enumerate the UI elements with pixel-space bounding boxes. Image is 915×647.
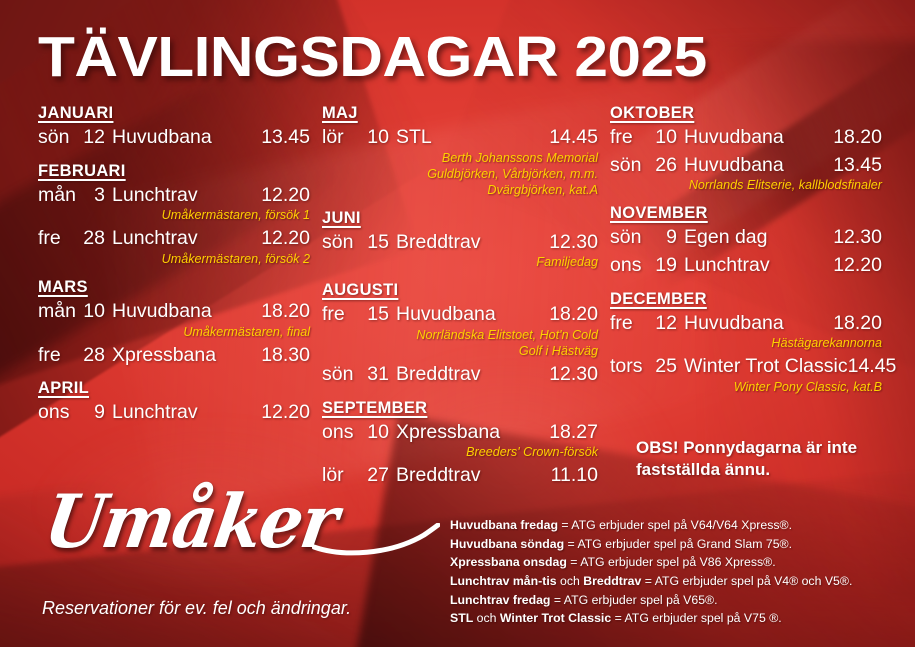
event-date: 15 [366,229,396,257]
event-time: 12.30 [549,361,598,389]
month-column-3: OKTOBERfre10Huvudbana18.20sön26Huvudbana… [610,104,882,406]
event-date: 9 [654,224,684,252]
event-name: Breddtrav [396,462,551,490]
event-time: 11.10 [551,462,598,490]
month-block: OKTOBERfre10Huvudbana18.20sön26Huvudbana… [610,104,882,194]
event-note: Berth Johanssons Memorial [322,151,598,167]
event-weekday: mån [38,298,82,326]
month-block: MAJlör10STL14.45Berth Johanssons Memoria… [322,104,598,199]
event-date: 10 [366,124,396,152]
month-name: DECEMBER [610,290,882,309]
legend-description: = ATG erbjuder spel på V64/V64 Xpress®. [558,518,792,532]
event-note: Familjedag [322,255,598,271]
event-name: Lunchtrav [112,182,261,210]
event-name: Winter Trot Classic [684,353,848,381]
month-name: OKTOBER [610,104,882,123]
event-weekday: lör [322,124,366,152]
event-time: 18.30 [261,342,310,370]
legend-description: = ATG erbjuder spel på V86 Xpress®. [567,555,776,569]
month-block: MARSmån10Huvudbana18.20Umåkermästaren, f… [38,278,310,369]
event-note: Hästägarekannorna [610,336,882,352]
event-date: 12 [82,124,112,152]
event-time: 13.45 [833,152,882,180]
legend-line: Lunchtrav mån-tis och Breddtrav = ATG er… [450,572,905,591]
event-row: sön31Breddtrav12.30 [322,361,598,389]
legend-term: Lunchtrav fredag [450,593,550,607]
event-name: STL [396,124,549,152]
event-date: 25 [654,353,684,381]
event-time: 12.20 [261,225,310,253]
event-time: 18.20 [549,301,598,329]
logo-wordmark: Umåker [40,486,341,559]
event-time: 14.45 [848,353,897,381]
event-name: Egen dag [684,224,833,252]
event-weekday: sön [610,152,654,180]
month-column-2: MAJlör10STL14.45Berth Johanssons Memoria… [322,104,598,500]
month-block: JANUARIsön12Huvudbana13.45 [38,104,310,152]
event-time: 18.20 [833,124,882,152]
event-weekday: sön [322,229,366,257]
month-name: NOVEMBER [610,204,882,223]
legend-line: Huvudbana fredag = ATG erbjuder spel på … [450,516,905,535]
event-time: 12.20 [833,252,882,280]
legend-description: = ATG erbjuder spel på Grand Slam 75®. [564,537,792,551]
legend-term: Huvudbana söndag [450,537,564,551]
event-date: 31 [366,361,396,389]
legend-term: STL [450,611,473,625]
event-name: Breddtrav [396,361,549,389]
month-block: FEBRUARImån3Lunchtrav12.20Umåkermästaren… [38,162,310,268]
event-row: sön9Egen dag12.30 [610,224,882,252]
event-row: fre12Huvudbana18.20 [610,310,882,338]
event-name: Lunchtrav [112,399,261,427]
event-note: Umåkermästaren, försök 1 [38,208,310,224]
event-name: Huvudbana [112,298,261,326]
page-title: TÄVLINGSDAGAR 2025 [38,24,707,90]
event-row: fre28Lunchtrav12.20 [38,225,310,253]
legend-line: Huvudbana söndag = ATG erbjuder spel på … [450,535,905,554]
event-row: sön12Huvudbana13.45 [38,124,310,152]
event-note: Umåkermästaren, försök 2 [38,252,310,268]
month-block: JUNIsön15Breddtrav12.30Familjedag [322,209,598,272]
event-note: Norrländska Elitstoet, Hot'n Cold [322,328,598,344]
month-column-1: JANUARIsön12Huvudbana13.45FEBRUARImån3Lu… [38,104,310,437]
event-time: 12.30 [549,229,598,257]
event-row: fre28Xpressbana18.30 [38,342,310,370]
event-name: Huvudbana [684,152,833,180]
event-weekday: sön [610,224,654,252]
legend-term-secondary: Breddtrav [583,574,641,588]
event-name: Huvudbana [396,301,549,329]
event-weekday: fre [610,124,654,152]
event-note: Dvärgbjörken, kat.A [322,183,598,199]
month-name: JUNI [322,209,598,228]
month-block: DECEMBERfre12Huvudbana18.20Hästägarekann… [610,290,882,396]
legend-term: Xpressbana onsdag [450,555,567,569]
legend-description: = ATG erbjuder spel på V4® och V5®. [641,574,852,588]
event-time: 12.30 [833,224,882,252]
event-date: 10 [82,298,112,326]
event-name: Huvudbana [112,124,261,152]
event-row: tors25Winter Trot Classic14.45 [610,353,882,381]
legend-conjunction: och [473,611,500,625]
event-note: Guldbjörken, Vårbjörken, m.m. [322,167,598,183]
event-date: 10 [654,124,684,152]
event-name: Huvudbana [684,124,833,152]
month-block: AUGUSTIfre15Huvudbana18.20Norrländska El… [322,281,598,388]
event-time: 13.45 [261,124,310,152]
event-time: 14.45 [549,124,598,152]
event-row: sön15Breddtrav12.30 [322,229,598,257]
legend-description: = ATG erbjuder spel på V65®. [550,593,717,607]
event-date: 19 [654,252,684,280]
event-row: fre15Huvudbana18.20 [322,301,598,329]
event-weekday: fre [38,225,82,253]
event-time: 18.27 [549,419,598,447]
event-weekday: mån [38,182,82,210]
month-name: FEBRUARI [38,162,310,181]
month-name: MAJ [322,104,598,123]
event-note: Breeders' Crown-försök [322,445,598,461]
event-weekday: ons [322,419,366,447]
month-name: AUGUSTI [322,281,598,300]
event-date: 28 [82,342,112,370]
event-date: 9 [82,399,112,427]
event-row: lör27Breddtrav11.10 [322,462,598,490]
event-name: Lunchtrav [112,225,261,253]
event-row: ons9Lunchtrav12.20 [38,399,310,427]
legend-term: Lunchtrav mån-tis [450,574,557,588]
event-date: 10 [366,419,396,447]
event-name: Breddtrav [396,229,549,257]
event-time: 18.20 [833,310,882,338]
event-time: 18.20 [261,298,310,326]
event-weekday: ons [38,399,82,427]
event-weekday: tors [610,353,654,381]
event-row: ons19Lunchtrav12.20 [610,252,882,280]
event-note: Golf i Hästväg [322,344,598,360]
event-date: 12 [654,310,684,338]
event-row: lör10STL14.45 [322,124,598,152]
event-row: ons10Xpressbana18.27 [322,419,598,447]
legend-line: Lunchtrav fredag = ATG erbjuder spel på … [450,591,905,610]
legend-line: STL och Winter Trot Classic = ATG erbjud… [450,609,905,628]
event-weekday: fre [38,342,82,370]
event-date: 28 [82,225,112,253]
legend-term-secondary: Winter Trot Classic [500,611,611,625]
event-note: Norrlands Elitserie, kallblodsfinaler [610,178,882,194]
obs-note: OBS! Ponnydagarna är inte fastställda än… [636,437,886,481]
event-name: Xpressbana [396,419,549,447]
month-name: MARS [38,278,310,297]
event-weekday: sön [38,124,82,152]
month-block: APRILons9Lunchtrav12.20 [38,379,310,427]
event-date: 3 [82,182,112,210]
legend-line: Xpressbana onsdag = ATG erbjuder spel på… [450,553,905,572]
event-note: Umåkermästaren, final [38,325,310,341]
event-row: mån3Lunchtrav12.20 [38,182,310,210]
event-time: 12.20 [261,182,310,210]
event-name: Xpressbana [112,342,261,370]
umaker-logo: Umåker [40,491,420,569]
event-weekday: ons [610,252,654,280]
legend-conjunction: och [557,574,584,588]
event-name: Lunchtrav [684,252,833,280]
event-weekday: sön [322,361,366,389]
month-block: SEPTEMBERons10Xpressbana18.27Breeders' C… [322,399,598,490]
event-date: 26 [654,152,684,180]
event-name: Huvudbana [684,310,833,338]
event-row: mån10Huvudbana18.20 [38,298,310,326]
event-weekday: fre [322,301,366,329]
event-row: sön26Huvudbana13.45 [610,152,882,180]
month-name: SEPTEMBER [322,399,598,418]
event-date: 15 [366,301,396,329]
event-note: Winter Pony Classic, kat.B [610,380,882,396]
reservation-text: Reservationer för ev. fel och ändringar. [42,598,351,619]
event-time: 12.20 [261,399,310,427]
legend-block: Huvudbana fredag = ATG erbjuder spel på … [450,516,905,628]
event-date: 27 [366,462,396,490]
event-row: fre10Huvudbana18.20 [610,124,882,152]
event-weekday: fre [610,310,654,338]
legend-term: Huvudbana fredag [450,518,558,532]
month-name: JANUARI [38,104,310,123]
month-block: NOVEMBERsön9Egen dag12.30ons19Lunchtrav1… [610,204,882,279]
month-name: APRIL [38,379,310,398]
legend-description: = ATG erbjuder spel på V75 ®. [611,611,782,625]
